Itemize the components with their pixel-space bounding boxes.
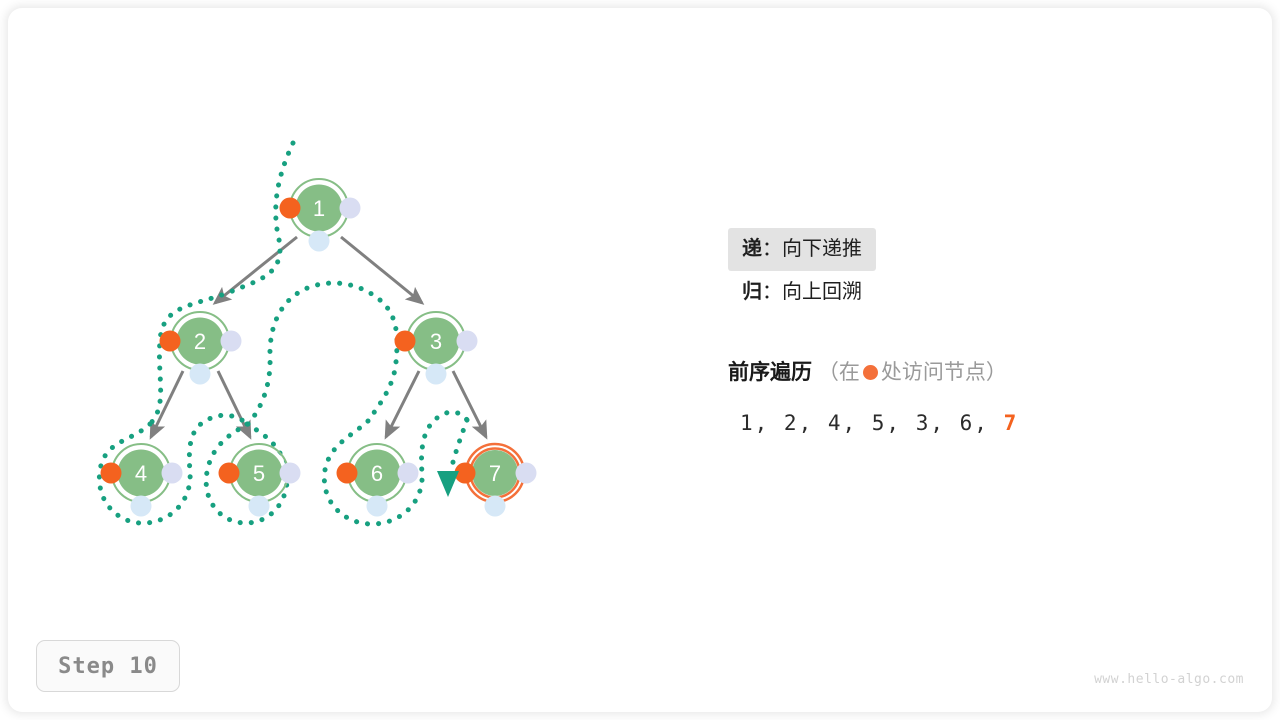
tree-node-3[interactable]: 3: [395, 312, 478, 385]
edge-2-5: [218, 371, 250, 437]
node-1-label: 1: [313, 196, 325, 221]
legend-row-return: 归：向上回溯: [728, 271, 1208, 314]
node-2-postorder-dot: [190, 364, 211, 385]
node-7-label: 7: [489, 461, 501, 486]
footer-url: www.hello-algo.com: [1094, 672, 1244, 687]
node-7-postorder-dot: [485, 496, 506, 517]
step-badge: Step 10: [36, 640, 180, 692]
sequence-visited: 1, 2, 4, 5, 3, 6,: [740, 411, 1004, 435]
node-3-inorder-dot: [457, 331, 478, 352]
node-3-label: 3: [430, 329, 442, 354]
screenshot-stage: 1 2 3: [0, 0, 1280, 720]
traversal-heading: 前序遍历 （在处访问节点）: [728, 362, 1007, 383]
current-position-marker-icon: [437, 471, 459, 497]
tree-node-6[interactable]: 6: [337, 444, 419, 517]
node-6-postorder-dot: [367, 496, 388, 517]
traversal-note-after: 处访问节点）: [881, 361, 1007, 384]
path-segment-back-to-root: [248, 283, 397, 424]
node-3-postorder-dot: [426, 364, 447, 385]
node-6-inorder-dot: [398, 463, 419, 484]
node-5-label: 5: [253, 461, 265, 486]
tree-node-5[interactable]: 5: [219, 444, 301, 517]
node-2-inorder-dot: [221, 331, 242, 352]
node-4-label: 4: [135, 461, 147, 486]
node-6-label: 6: [371, 461, 383, 486]
tree-node-7[interactable]: 7: [455, 444, 537, 517]
path-segment-root-to-2: [150, 143, 293, 424]
legend-row-recurse: 递：向下递推: [728, 228, 876, 271]
traversal-note-before: （在: [818, 361, 860, 384]
node-3-preorder-dot: [395, 331, 416, 352]
path-segment-to-7: [452, 420, 467, 466]
edge-3-7: [453, 371, 486, 437]
node-5-postorder-dot: [249, 496, 270, 517]
legend-recurse-key: 递: [742, 238, 762, 260]
node-6-preorder-dot: [337, 463, 358, 484]
tree-node-4[interactable]: 4: [101, 444, 183, 517]
node-1-inorder-dot: [340, 198, 361, 219]
traversal-title: 前序遍历: [728, 361, 812, 384]
preorder-dot-icon: [863, 365, 878, 380]
tree-nodes: 1 2 3: [101, 179, 537, 517]
legend-panel: 递：向下递推 归：向上回溯: [728, 228, 1208, 314]
node-1-postorder-dot: [309, 231, 330, 252]
traversal-sequence: 1, 2, 4, 5, 3, 6, 7: [740, 411, 1018, 435]
tree-node-2[interactable]: 2: [160, 312, 242, 385]
node-4-preorder-dot: [101, 463, 122, 484]
node-4-inorder-dot: [162, 463, 183, 484]
legend-recurse-text: ：向下递推: [762, 238, 862, 260]
legend-return-key: 归: [742, 281, 762, 303]
node-5-preorder-dot: [219, 463, 240, 484]
sequence-current: 7: [1004, 411, 1019, 435]
binary-tree-diagram: 1 2 3: [0, 0, 1280, 720]
legend-return-text: ：向上回溯: [762, 281, 862, 303]
node-5-inorder-dot: [280, 463, 301, 484]
node-7-inorder-dot: [516, 463, 537, 484]
node-2-preorder-dot: [160, 331, 181, 352]
node-2-label: 2: [194, 329, 206, 354]
node-4-postorder-dot: [131, 496, 152, 517]
edge-1-3: [341, 237, 422, 303]
edge-1-2: [215, 237, 297, 303]
node-1-preorder-dot: [280, 198, 301, 219]
edge-2-4: [151, 371, 183, 437]
